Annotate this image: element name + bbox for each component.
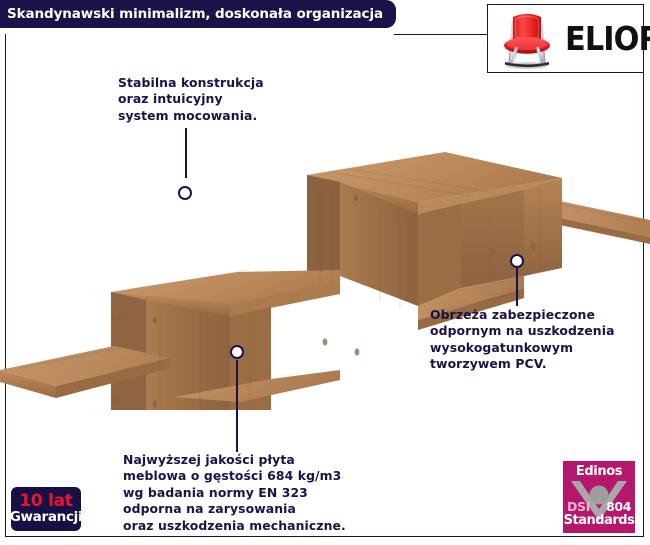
infographic-canvas: Skandynawski minimalizm, doskonała organ… — [0, 0, 650, 545]
warranty-badge: 10 lat Gwarancji — [11, 487, 81, 531]
callout-leader-line-2 — [516, 268, 518, 306]
edinos-code-right: 804 — [606, 499, 631, 514]
callout-leader-line-3 — [236, 360, 238, 452]
edinos-title: Edinos — [563, 464, 635, 479]
edinos-standards-badge: Edinos DSI 804 Standards — [563, 461, 635, 533]
warranty-label: Gwarancji — [10, 511, 83, 525]
edinos-code-left: DSI — [567, 499, 590, 514]
callout-marker-icon-3 — [230, 345, 244, 359]
callout-text-board-quality: Najwyższej jakości płyta meblowa o gęsto… — [123, 452, 346, 534]
edinos-subtitle: Standards — [563, 513, 635, 528]
brand-name: ELIOR — [565, 22, 650, 55]
red-chair-icon — [491, 7, 563, 71]
callout-marker-icon-2 — [510, 254, 524, 268]
warranty-years: 10 lat — [19, 493, 72, 510]
header-bar: Skandynawski minimalizm, doskonała organ… — [0, 0, 396, 28]
callout-text-edges: Obrzeża zabezpieczone odpornym na uszkod… — [430, 307, 615, 373]
callout-marker-icon-1 — [178, 186, 192, 200]
brand-logo: ELIOR — [487, 4, 644, 73]
callout-leader-line-1 — [185, 128, 187, 178]
callout-text-construction: Stabilna konstrukcja oraz intuicyjny sys… — [118, 75, 264, 124]
page-title: Skandynawski minimalizm, doskonała organ… — [0, 6, 383, 22]
